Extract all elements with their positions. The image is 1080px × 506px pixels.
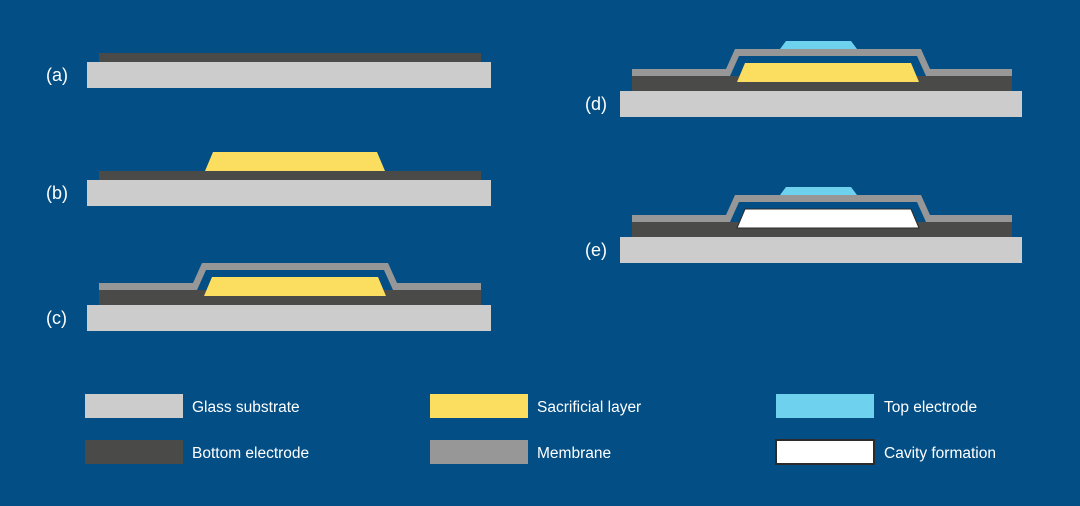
- panel-d-glass-substrate: [620, 91, 1022, 117]
- panel-c-glass-substrate: [87, 305, 491, 331]
- panel-a-label: (a): [46, 65, 68, 85]
- process-flow-figure: (a) (b) (c) (d): [0, 0, 1080, 506]
- legend-label-membrane: Membrane: [537, 445, 611, 462]
- legend-swatch-cavity-formation: [776, 440, 874, 464]
- legend-item-sacrificial-layer: Sacrificial layer: [430, 394, 641, 418]
- panel-a: (a): [46, 53, 491, 88]
- panel-c-label: (c): [46, 308, 67, 328]
- legend-item-cavity-formation: Cavity formation: [776, 440, 996, 464]
- panel-b: (b): [46, 152, 491, 206]
- legend-label-sacrificial-layer: Sacrificial layer: [537, 399, 641, 416]
- panel-d: (d): [585, 41, 1022, 117]
- panel-d-sacrificial-layer: [737, 63, 919, 82]
- legend-swatch-glass-substrate: [85, 394, 183, 418]
- panel-a-glass-substrate: [87, 62, 491, 88]
- panel-c: (c): [46, 263, 491, 331]
- legend-item-glass-substrate: Glass substrate: [85, 394, 300, 418]
- legend-label-bottom-electrode: Bottom electrode: [192, 445, 309, 462]
- legend-item-top-electrode: Top electrode: [776, 394, 977, 418]
- panel-b-bottom-electrode: [99, 171, 481, 180]
- legend-swatch-sacrificial-layer: [430, 394, 528, 418]
- legend-swatch-bottom-electrode: [85, 440, 183, 464]
- panel-c-sacrificial-layer: [204, 277, 386, 296]
- panel-d-top-electrode-shape: [780, 41, 857, 49]
- legend-item-membrane: Membrane: [430, 440, 611, 464]
- panel-e: (e): [585, 187, 1022, 263]
- panel-b-label: (b): [46, 183, 68, 203]
- panel-b-glass-substrate: [87, 180, 491, 206]
- panel-e-top-electrode: [780, 187, 857, 195]
- panel-d-label: (d): [585, 94, 607, 114]
- legend-swatch-membrane: [430, 440, 528, 464]
- legend: Glass substrate Bottom electrode Sacrifi…: [85, 394, 996, 464]
- legend-label-top-electrode: Top electrode: [884, 399, 977, 416]
- panel-b-sacrificial-layer: [205, 152, 385, 171]
- panel-e-label: (e): [585, 240, 607, 260]
- legend-item-bottom-electrode: Bottom electrode: [85, 440, 309, 464]
- panel-e-glass-substrate: [620, 237, 1022, 263]
- legend-label-cavity-formation: Cavity formation: [884, 445, 996, 462]
- legend-label-glass-substrate: Glass substrate: [192, 399, 300, 416]
- diagram-canvas: (a) (b) (c) (d): [0, 0, 1080, 506]
- panel-a-bottom-electrode: [99, 53, 481, 62]
- legend-swatch-top-electrode: [776, 394, 874, 418]
- panel-e-cavity-formation: [737, 209, 919, 228]
